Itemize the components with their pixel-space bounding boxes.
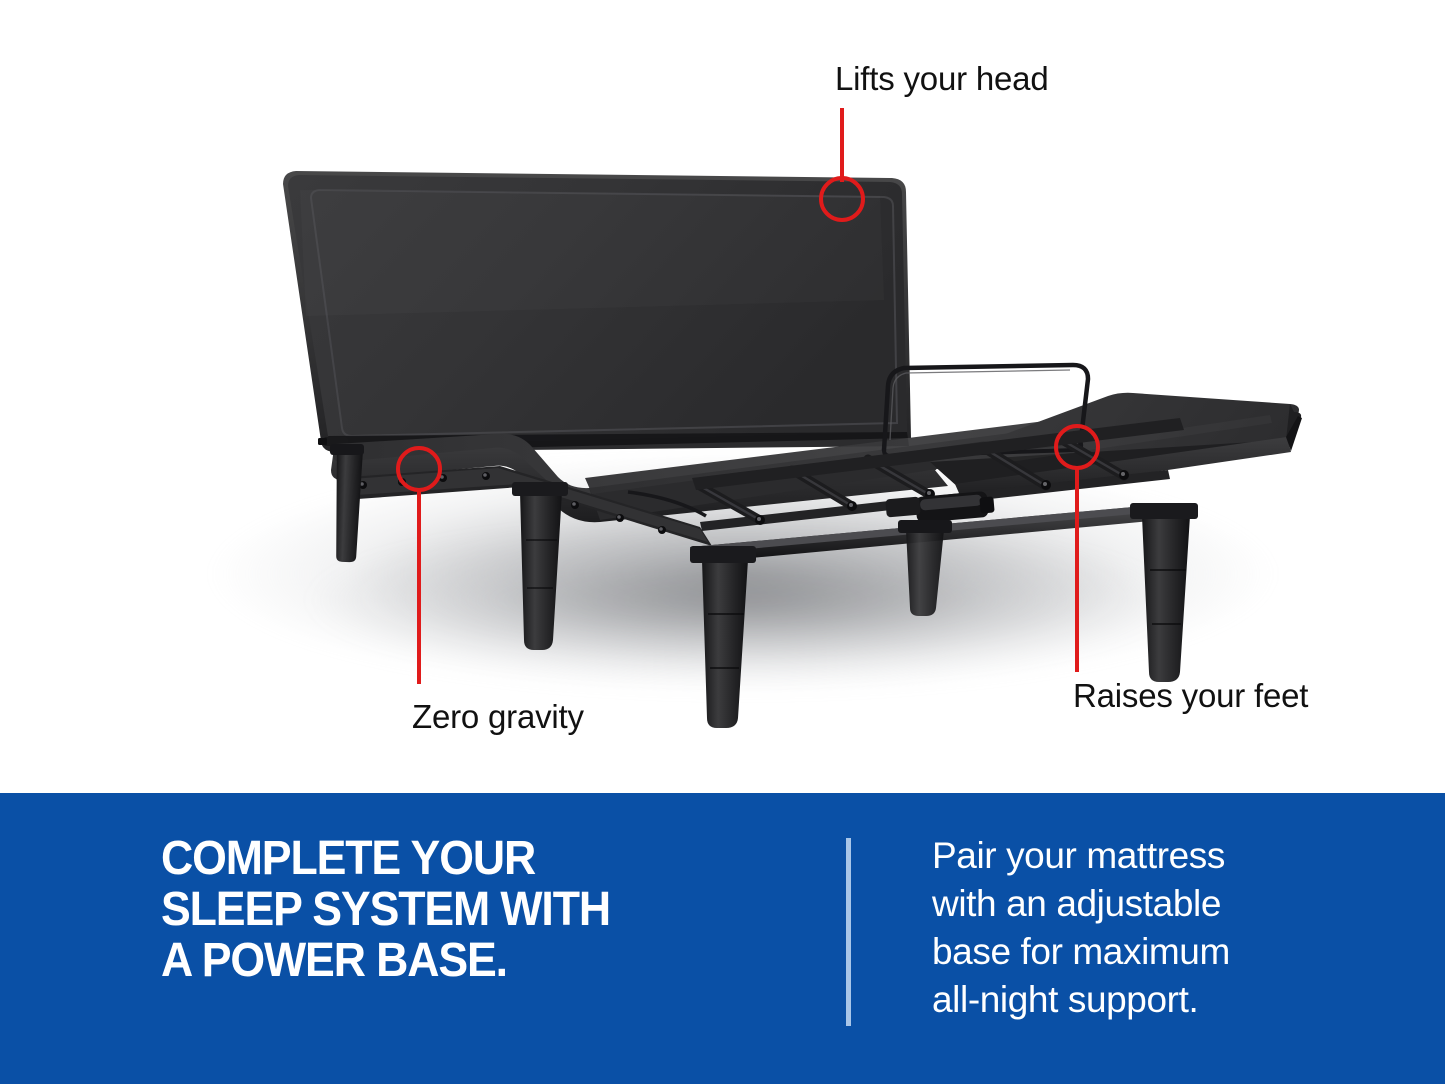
headline-line-2: SLEEP SYSTEM WITH — [161, 884, 756, 935]
callout-leader-line-zero-gravity — [417, 490, 421, 684]
subcopy-line-1: Pair your mattress — [932, 832, 1312, 880]
adjustable-bed-base-image — [0, 0, 1445, 793]
callout-label-lifts-head: Lifts your head — [835, 62, 1048, 95]
callout-label-zero-gravity: Zero gravity — [412, 700, 584, 733]
banner-subcopy: Pair your mattress with an adjustable ba… — [932, 832, 1312, 1024]
head-section — [283, 171, 911, 452]
promo-graphic: Lifts your head Zero gravity Raises your… — [0, 0, 1445, 1084]
promo-banner: COMPLETE YOUR SLEEP SYSTEM WITH A POWER … — [0, 793, 1445, 1084]
actuator-motor — [885, 491, 994, 523]
banner-divider — [846, 838, 851, 1026]
banner-headline: COMPLETE YOUR SLEEP SYSTEM WITH A POWER … — [161, 833, 756, 986]
subcopy-line-2: with an adjustable — [932, 880, 1312, 928]
headline-line-1: COMPLETE YOUR — [161, 833, 756, 884]
callout-ring-lifts-head — [819, 176, 865, 222]
callout-label-raises-feet: Raises your feet — [1073, 679, 1308, 712]
callout-ring-raises-feet — [1054, 424, 1100, 470]
callout-ring-zero-gravity — [396, 446, 442, 492]
headline-line-3: A POWER BASE. — [161, 935, 756, 986]
callout-leader-line-lifts-head — [840, 108, 844, 182]
subcopy-line-3: base for maximum — [932, 928, 1312, 976]
hero-product-panel: Lifts your head Zero gravity Raises your… — [0, 0, 1445, 793]
callout-leader-line-raises-feet — [1075, 468, 1079, 672]
subcopy-line-4: all-night support. — [932, 976, 1312, 1024]
